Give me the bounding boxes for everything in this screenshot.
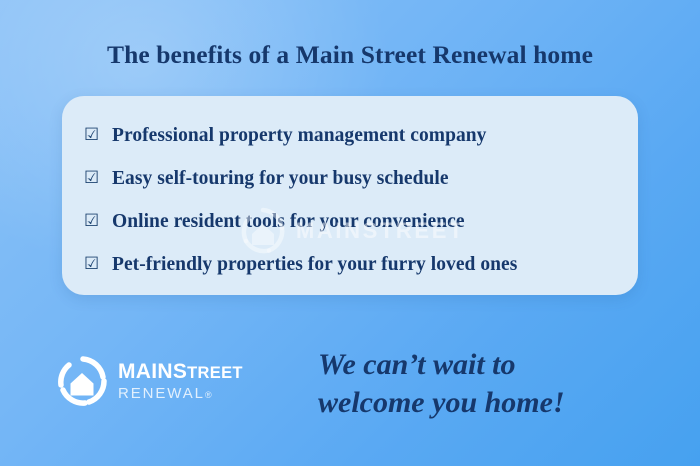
benefits-list: ☑ Professional property management compa… (84, 114, 628, 286)
brand-subtitle-text: RENEWAL (118, 385, 205, 402)
list-item: ☑ Online resident tools for your conveni… (84, 200, 628, 243)
checkbox-checked-icon: ☑ (84, 127, 112, 144)
brand-subtitle: RENEWAL® (118, 386, 243, 401)
tagline-line-2: welcome you home! (318, 384, 658, 422)
brand-name-s: S (173, 360, 187, 383)
brand-name: MAINSTREET (118, 361, 243, 382)
brand-name-treet: TREET (187, 364, 243, 382)
list-item: ☑ Professional property management compa… (84, 114, 628, 157)
list-item: ☑ Easy self-touring for your busy schedu… (84, 157, 628, 200)
brand-wordmark: MAINSTREET RENEWAL® (118, 361, 243, 401)
checkbox-checked-icon: ☑ (84, 170, 112, 187)
benefits-card: ☑ Professional property management compa… (62, 96, 638, 295)
list-item-label: Easy self-touring for your busy schedule (112, 168, 449, 190)
list-item-label: Professional property management company (112, 125, 486, 147)
registered-trademark-icon: ® (205, 390, 214, 400)
list-item: ☑ Pet-friendly properties for your furry… (84, 243, 628, 286)
promo-poster: The benefits of a Main Street Renewal ho… (0, 0, 700, 466)
list-item-label: Pet-friendly properties for your furry l… (112, 254, 517, 276)
checkbox-checked-icon: ☑ (84, 213, 112, 230)
list-item-label: Online resident tools for your convenien… (112, 211, 465, 233)
brand-name-main: MAIN (118, 360, 173, 383)
page-title: The benefits of a Main Street Renewal ho… (0, 40, 700, 70)
tagline: We can’t wait to welcome you home! (318, 346, 658, 423)
mainstreet-logo-icon (57, 356, 107, 406)
brand-logo: MAINSTREET RENEWAL® (57, 356, 243, 406)
checkbox-checked-icon: ☑ (84, 256, 112, 273)
tagline-line-1: We can’t wait to (318, 346, 658, 384)
